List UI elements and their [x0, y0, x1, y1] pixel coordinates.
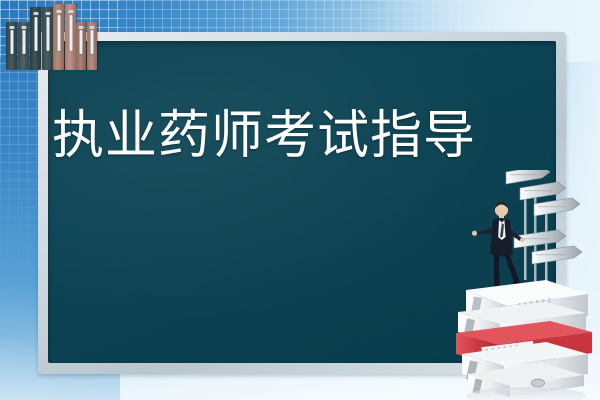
binder-stack [456, 280, 592, 400]
binder-item [76, 22, 86, 70]
signpost-group [506, 170, 582, 282]
page-title: 执业药师考试指导 [52, 110, 476, 162]
binder-item [18, 22, 29, 70]
businessman-on-binder-stack-illustration [446, 170, 596, 400]
binder-item [30, 7, 41, 70]
binder-item [42, 7, 53, 70]
binder-row [6, 0, 96, 70]
binder-item [87, 22, 97, 70]
binder-item [53, 4, 64, 70]
binder-item [65, 4, 76, 70]
binder-item [6, 22, 17, 70]
banner-root: 执业药师考试指导 [0, 0, 600, 400]
